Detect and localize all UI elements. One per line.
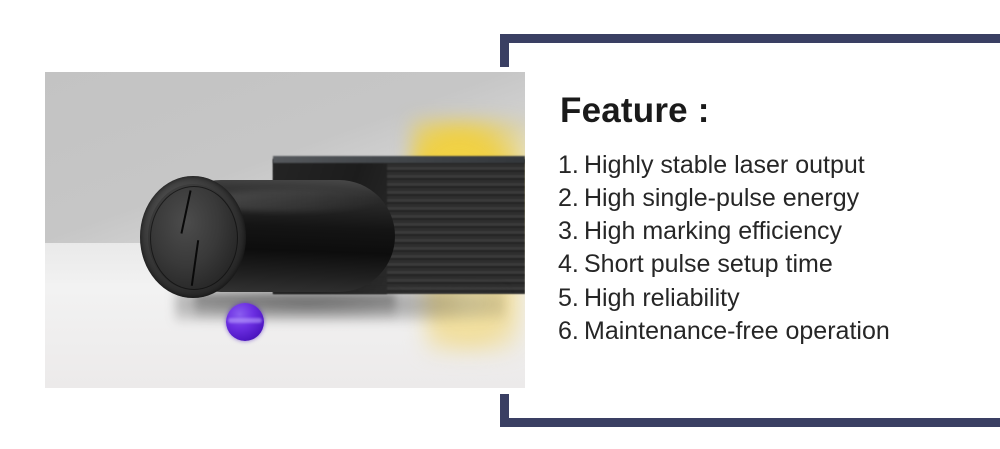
photo-heatsink-top-edge	[273, 156, 525, 163]
bracket-bottom-horizontal-bar	[500, 418, 1000, 427]
list-item-number: 5.	[558, 282, 584, 315]
list-item-number: 2.	[558, 182, 584, 215]
list-item-label: High single-pulse energy	[584, 184, 859, 212]
list-item: 2.High single-pulse energy	[558, 182, 978, 215]
photo-lens-highlight-band	[228, 318, 262, 323]
list-item-label: Maintenance-free operation	[584, 317, 890, 345]
list-item-number: 6.	[558, 315, 584, 348]
bracket-top-horizontal-bar	[500, 34, 1000, 43]
feature-text-column: Feature : 1.Highly stable laser output 2…	[558, 92, 978, 348]
list-item-number: 1.	[558, 149, 584, 182]
list-item: 5.High reliability	[558, 282, 978, 315]
bracket-top-vertical-stub	[500, 34, 509, 67]
list-item-number: 4.	[558, 248, 584, 281]
feature-banner: Feature : 1.Highly stable laser output 2…	[0, 0, 1000, 449]
list-item-label: Highly stable laser output	[584, 151, 865, 179]
bracket-bottom-vertical-stub	[500, 394, 509, 427]
list-item: 4.Short pulse setup time	[558, 248, 978, 281]
list-item: 1.Highly stable laser output	[558, 149, 978, 182]
list-item: 3.High marking efficiency	[558, 215, 978, 248]
page-title: Feature :	[560, 92, 978, 131]
photo-surface-reflection	[195, 294, 395, 320]
list-item-number: 3.	[558, 215, 584, 248]
list-item-label: High reliability	[584, 284, 740, 312]
product-photo	[45, 72, 525, 388]
feature-list: 1.Highly stable laser output 2.High sing…	[558, 149, 978, 349]
list-item-label: Short pulse setup time	[584, 250, 833, 278]
list-item: 6.Maintenance-free operation	[558, 315, 978, 348]
list-item-label: High marking efficiency	[584, 217, 842, 245]
